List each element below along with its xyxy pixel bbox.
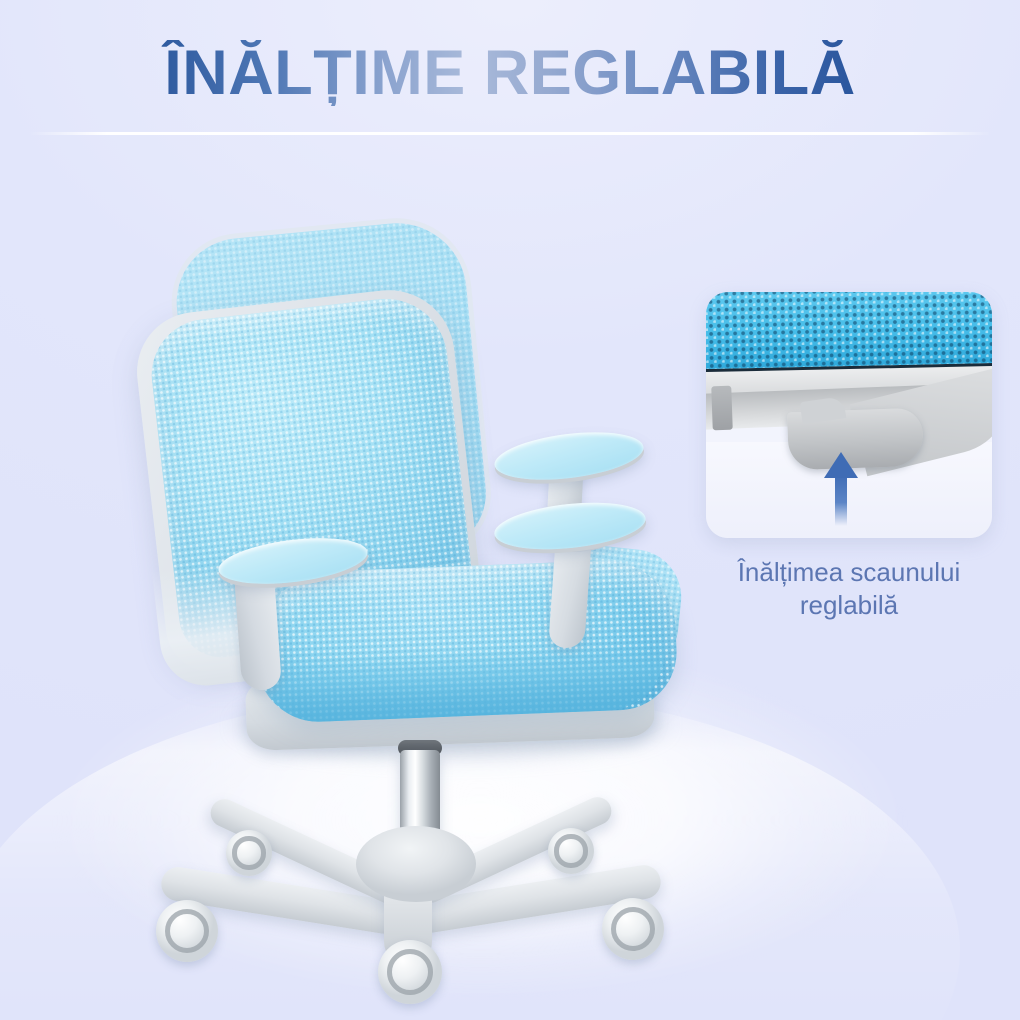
caster-front-left bbox=[156, 900, 218, 962]
arrow-head bbox=[824, 452, 858, 478]
armrest-pad-right bbox=[492, 496, 648, 556]
detail-inset-panel bbox=[706, 292, 992, 538]
inset-seat-cushion bbox=[706, 292, 992, 369]
caster-front-right bbox=[602, 898, 664, 960]
arrow-tail bbox=[835, 474, 847, 526]
five-star-base bbox=[150, 790, 670, 970]
caster-back-left bbox=[226, 830, 272, 876]
inset-caption: Înălțimea scaunului reglabilă bbox=[666, 556, 1020, 622]
inset-caption-line1: Înălțimea scaunului bbox=[666, 556, 1020, 589]
inset-caption-line2: reglabilă bbox=[666, 589, 1020, 622]
product-marketing-image: ÎNĂLȚIME REGLABILĂ bbox=[0, 0, 1020, 1020]
caster-front-center bbox=[378, 940, 442, 1004]
armrest-pad-raised bbox=[492, 425, 646, 487]
height-adjust-bracket bbox=[711, 386, 733, 431]
armrest-post-left bbox=[234, 572, 282, 690]
base-hub bbox=[356, 826, 476, 902]
caster-back-right bbox=[548, 828, 594, 874]
up-arrow-icon bbox=[824, 452, 858, 526]
mesh-texture bbox=[706, 292, 992, 369]
